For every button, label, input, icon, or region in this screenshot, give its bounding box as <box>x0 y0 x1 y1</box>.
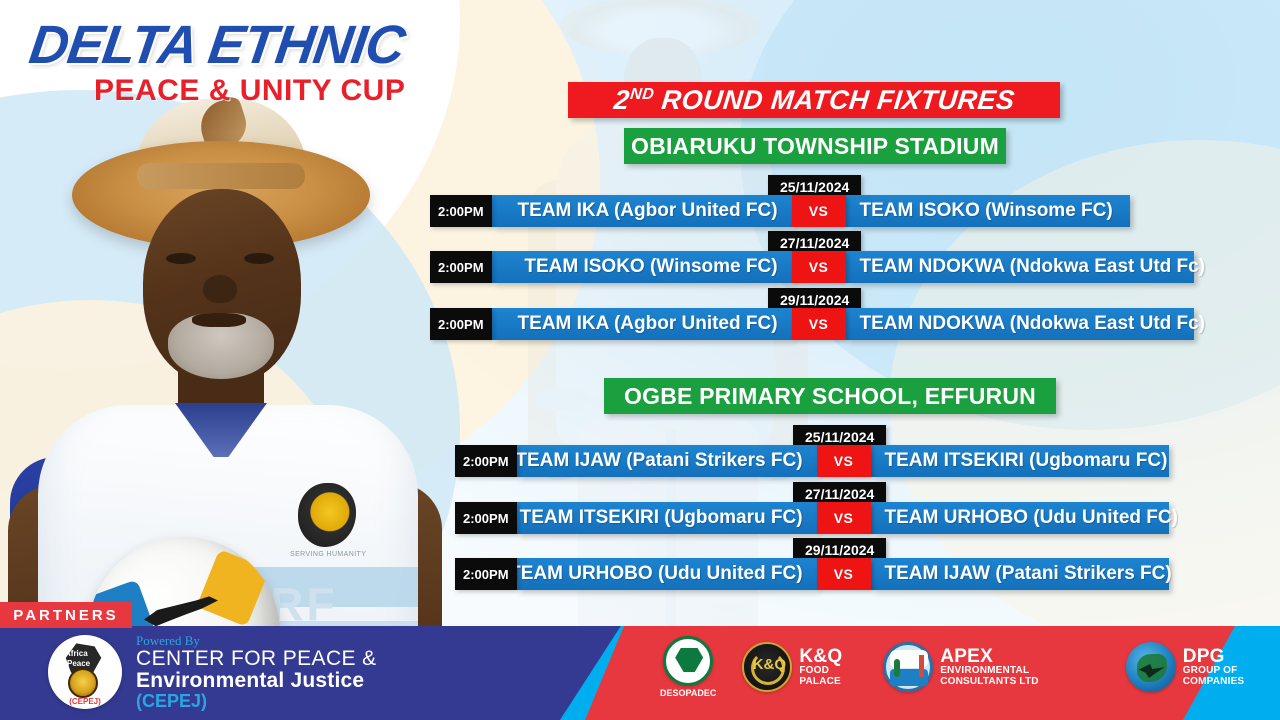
round-banner-label: 2ND ROUND MATCH FIXTURES <box>612 85 1016 116</box>
away-team-2: TEAM NDOKWA (Ndokwa East Utd Fc) <box>846 251 1194 283</box>
cepej-block: Africa Peace (CEPEJ) Powered By CENTER F… <box>48 634 377 711</box>
venue-banner-2: OGBE PRIMARY SCHOOL, EFFURUN <box>604 378 1056 414</box>
cepej-logo-icon: Africa Peace (CEPEJ) <box>48 635 122 709</box>
vs-label-6: VS <box>817 558 871 590</box>
cepej-logo-word-peace: Peace <box>67 659 90 668</box>
vs-label-5: VS <box>817 502 871 534</box>
away-team-4: TEAM ITSEKIRI (Ugbomaru FC) <box>871 445 1169 477</box>
home-team-3: TEAM IKA (Agbor United FC) <box>492 308 792 340</box>
apex-logo-icon <box>883 642 933 692</box>
event-logo: DELTA ETHNIC PEACE & UNITY CUP <box>30 14 405 108</box>
venue-name-2: OGBE PRIMARY SCHOOL, EFFURUN <box>624 383 1036 410</box>
dpg-text: DPG GROUP OF COMPANIES <box>1183 647 1280 688</box>
sponsor-dpg: DPG GROUP OF COMPANIES <box>1126 642 1280 692</box>
org-line-3: (CEPEJ) <box>136 692 377 711</box>
org-line-2: Environmental Justice <box>136 670 377 692</box>
sponsor-desopadec: DESOPADEC <box>660 636 716 698</box>
apex-name: APEX <box>940 647 1100 667</box>
match-time-3: 2:00PM <box>430 308 492 340</box>
logo-title: DELTA ETHNIC <box>26 14 410 76</box>
home-team-1: TEAM IKA (Agbor United FC) <box>492 195 792 227</box>
sponsor-logos: DESOPADEC K&Q K&Q FOOD PALACE APEX <box>660 636 1280 698</box>
puma-logo-icon <box>144 595 218 629</box>
cepej-text-block: Powered By CENTER FOR PEACE & Environmen… <box>136 634 377 711</box>
match-time-4: 2:00PM <box>455 445 517 477</box>
vs-label-3: VS <box>792 308 846 340</box>
desopadec-logo-icon <box>663 636 713 686</box>
vs-label-2: VS <box>792 251 846 283</box>
athlete-photo: DRF SERVING HUMANITY FIFA <box>0 85 470 645</box>
partners-label: PARTNERS <box>13 607 118 624</box>
dpg-logo-icon <box>1126 642 1176 692</box>
kq-text: K&Q FOOD PALACE <box>799 647 857 688</box>
eye-left <box>166 253 196 264</box>
partners-tab: PARTNERS <box>0 602 132 628</box>
jersey-badge-caption: SERVING HUMANITY <box>290 551 366 558</box>
apex-text: APEX ENVIRONMENTAL CONSULTANTS LTD <box>940 647 1100 688</box>
match-time-2: 2:00PM <box>430 251 492 283</box>
vs-label-4: VS <box>817 445 871 477</box>
venue-name-1: OBIARUKU TOWNSHIP STADIUM <box>631 133 999 160</box>
footer-bar: Africa Peace (CEPEJ) Powered By CENTER F… <box>0 626 1280 720</box>
away-team-3: TEAM NDOKWA (Ndokwa East Utd Fc) <box>846 308 1194 340</box>
eye-right <box>244 253 274 264</box>
away-team-5: TEAM URHOBO (Udu United FC) <box>871 502 1169 534</box>
poster-canvas: DRF SERVING HUMANITY FIFA DELTA ETHNIC P… <box>0 0 1280 720</box>
hat-band <box>137 163 305 189</box>
match-time-1: 2:00PM <box>430 195 492 227</box>
dpg-name: DPG <box>1183 647 1280 667</box>
home-team-2: TEAM ISOKO (Winsome FC) <box>492 251 792 283</box>
kq-name: K&Q <box>799 647 857 667</box>
desopadec-label: DESOPADEC <box>660 688 716 698</box>
apex-sub: ENVIRONMENTAL CONSULTANTS LTD <box>940 666 1100 687</box>
round-banner: 2ND ROUND MATCH FIXTURES <box>568 82 1060 118</box>
logo-subtitle: PEACE & UNITY CUP <box>94 74 405 108</box>
match-time-5: 2:00PM <box>455 502 517 534</box>
home-team-4: TEAM IJAW (Patani Strikers FC) <box>517 445 817 477</box>
home-team-6: TEAM URHOBO (Udu United FC) <box>517 558 817 590</box>
away-team-1: TEAM ISOKO (Winsome FC) <box>846 195 1130 227</box>
venue-banner-1: OBIARUKU TOWNSHIP STADIUM <box>624 128 1006 164</box>
sponsor-apex: APEX ENVIRONMENTAL CONSULTANTS LTD <box>883 642 1100 692</box>
vs-label-1: VS <box>792 195 846 227</box>
kq-sub: FOOD PALACE <box>799 666 857 687</box>
sponsor-kq: K&Q K&Q FOOD PALACE <box>742 642 857 692</box>
home-team-5: TEAM ITSEKIRI (Ugbomaru FC) <box>517 502 817 534</box>
kq-logo-icon: K&Q <box>742 642 792 692</box>
dpg-sub: GROUP OF COMPANIES <box>1183 666 1280 687</box>
cepej-logo-abbrev: (CEPEJ) <box>60 697 110 706</box>
powered-by-label: Powered By <box>136 634 377 648</box>
away-team-6: TEAM IJAW (Patani Strikers FC) <box>871 558 1169 590</box>
cepej-logo-word-africa: Africa <box>65 649 88 658</box>
org-line-1: CENTER FOR PEACE & <box>136 648 377 670</box>
match-time-6: 2:00PM <box>455 558 517 590</box>
